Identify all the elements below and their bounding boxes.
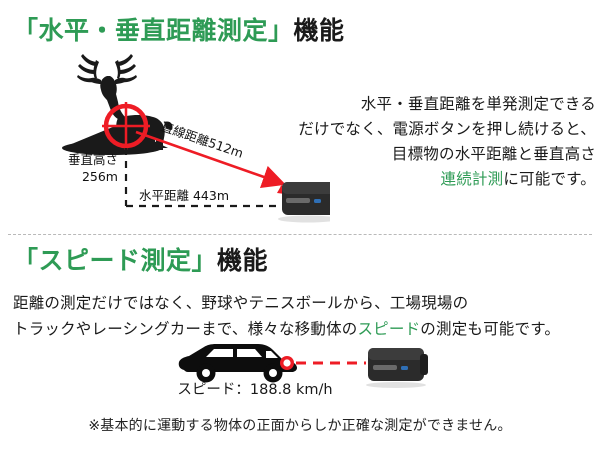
footnote-text: ※基本的に運動する物体の正面からしか正確な測定ができません。: [0, 415, 600, 435]
section-divider: [8, 234, 592, 235]
section2-title: 「スピード測定」機能: [13, 248, 268, 273]
section1-paragraph-line1: 水平・垂直距離を単発測定できる: [248, 92, 596, 117]
section1-title: 「水平・垂直距離測定」機能: [13, 18, 345, 43]
section2-paragraph-line2-a: トラックやレーシングカーまで、様々な移動体の: [13, 320, 357, 338]
section1-title-green-text: 水平・垂直距離測定: [39, 16, 269, 45]
section2-title-green-text: スピード測定: [39, 246, 192, 275]
vertical-height-label-line1: 垂直高さ: [68, 152, 118, 167]
section1-paragraph: 水平・垂直距離を単発測定できる だけでなく、電源ボタンを押し続けると、 目標物の…: [248, 92, 596, 192]
section2-title-bracket-open: 「: [13, 246, 39, 275]
vertical-height-label-line2: 256m: [82, 169, 118, 184]
section2-highlight-speed: スピード: [357, 320, 420, 338]
section1-title-bracket-close: 」: [268, 16, 294, 45]
laser-rangefinder-device-2: [366, 348, 428, 388]
section1-paragraph-line3: 目標物の水平距離と垂直高さ: [248, 142, 596, 167]
section1-paragraph-line4-rest: に可能です。: [503, 170, 596, 188]
section2-paragraph-line2-b: の測定も可能です。: [420, 320, 560, 338]
section2-paragraph-line1: 距離の測定だけではなく、野球やテニスボールから、工場現場の: [13, 290, 593, 316]
section2-title-black-text: 機能: [217, 246, 268, 275]
section1-paragraph-line4: 連続計測に可能です。: [248, 167, 596, 192]
section1-highlight-continuous: 連続計測: [441, 170, 504, 188]
speed-readout-label: スピード：188.8 km/h: [150, 378, 360, 399]
car-silhouette: [179, 344, 297, 383]
laser-dot: [280, 356, 294, 370]
section2-title-bracket-close: 」: [192, 246, 218, 275]
section2-paragraph-line2: トラックやレーシングカーまで、様々な移動体のスピードの測定も可能です。: [13, 316, 593, 342]
section2-paragraph: 距離の測定だけではなく、野球やテニスボールから、工場現場の トラックやレーシング…: [13, 290, 593, 342]
section1-title-bracket-open: 「: [13, 16, 39, 45]
section1-paragraph-line2: だけでなく、電源ボタンを押し続けると、: [248, 117, 596, 142]
infographic-page: 「水平・垂直距離測定」機能: [0, 0, 600, 450]
horizontal-distance-label: 水平距離 443m: [139, 188, 229, 203]
section1-title-black-text: 機能: [294, 16, 345, 45]
